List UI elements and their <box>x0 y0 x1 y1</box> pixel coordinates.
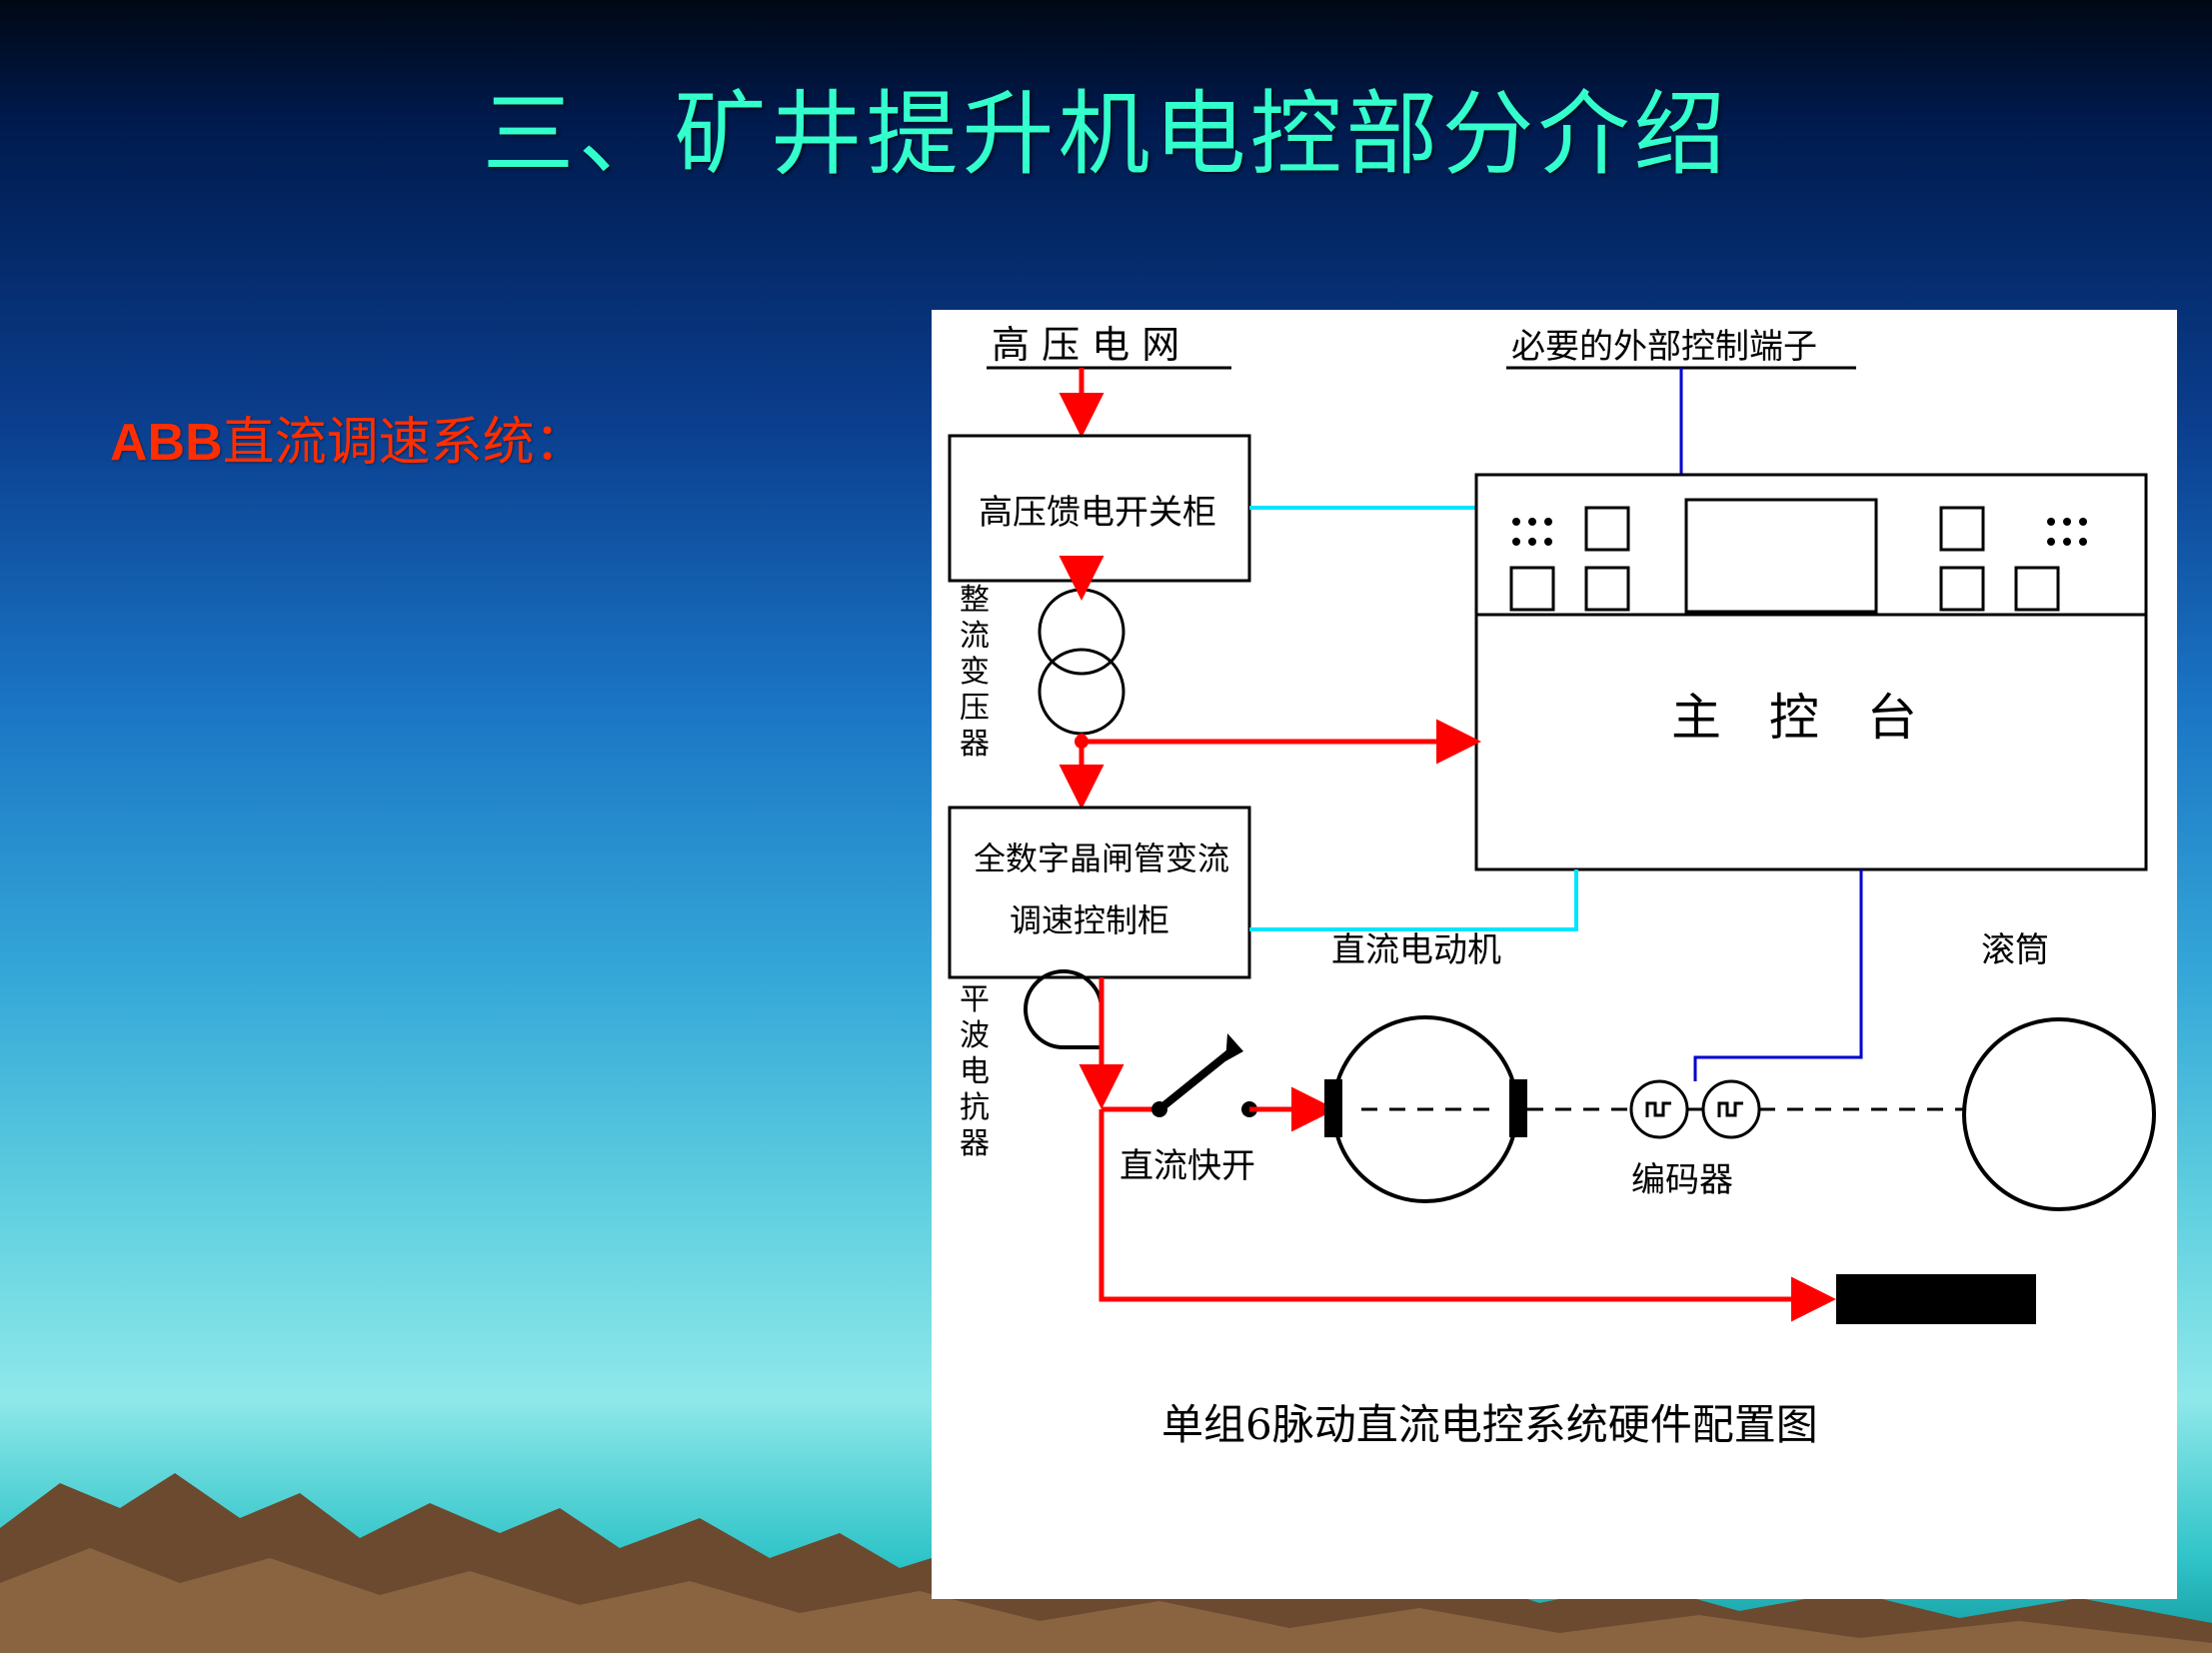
motor-brush-left <box>1324 1079 1342 1137</box>
label-grid: 高 压 电 网 <box>992 323 1179 367</box>
caption-abb-dc-drive: ABB直流调速系统： <box>110 400 587 475</box>
label-hv-switchgear: 高压馈电开关柜 <box>979 493 1216 533</box>
label-main-console: 主 控 台 <box>1671 689 1933 747</box>
label-converter-cabinet-line1: 全数字晶闸管变流 <box>974 839 1229 877</box>
label-rectifier-transformer: 整流变压器 <box>960 583 990 762</box>
caption-cjk: 直流调速系统： <box>223 413 587 473</box>
label-drum: 滚筒 <box>1981 930 2049 970</box>
label-smoothing-reactor: 平波电抗器 <box>960 982 990 1161</box>
slide-background: 三、矿井提升机电控部分介绍 ABB直流调速系统： 高 压 电 网 必要的外部控制… <box>0 0 2212 1653</box>
system-hardware-diagram: 高 压 电 网 必要的外部控制端子 高压馈电开关柜 <box>932 310 2177 1599</box>
diagram-caption: 单组6脉动直流电控系统硬件配置图 <box>1161 1400 1818 1449</box>
motor-brush-right <box>1509 1079 1527 1137</box>
label-external-terminals: 必要的外部控制端子 <box>1511 327 1817 367</box>
page-title: 三、矿井提升机电控部分介绍 <box>0 60 2212 193</box>
label-converter-cabinet-line2: 调速控制柜 <box>1010 901 1169 939</box>
label-dc-fast-switch: 直流快开 <box>1119 1146 1255 1186</box>
label-dc-motor: 直流电动机 <box>1331 930 1501 970</box>
caption-latin: ABB <box>110 414 223 472</box>
junction-dot <box>1075 735 1089 749</box>
field-winding-block <box>1836 1274 2036 1324</box>
label-encoder: 编码器 <box>1631 1160 1733 1200</box>
